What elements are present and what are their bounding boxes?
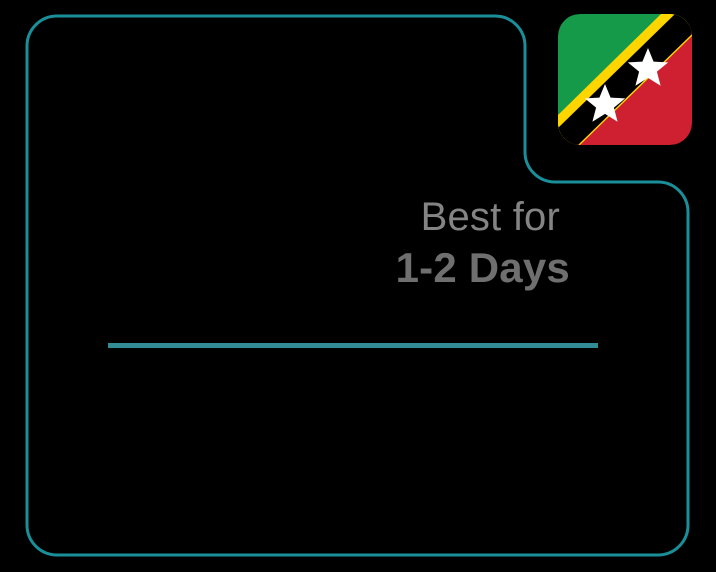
card-container: Best for 1-2 Days — [0, 0, 716, 572]
divider-rule — [108, 343, 598, 348]
card-text-block: Best for 1-2 Days — [0, 192, 598, 294]
best-for-label: Best for — [0, 192, 598, 242]
duration-value: 1-2 Days — [0, 242, 598, 294]
saint-kitts-and-nevis-flag-icon — [558, 14, 692, 145]
flag-graphic — [558, 14, 692, 145]
